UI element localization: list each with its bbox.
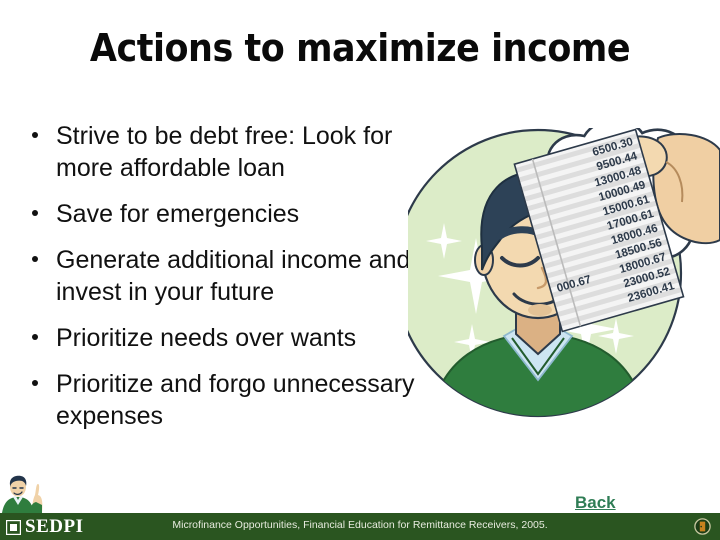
slide-canvas: Actions to maximize income Strive to be …: [0, 0, 720, 540]
list-item: Prioritize and forgo unnecessary expense…: [24, 368, 434, 432]
list-item-text: Generate additional income and invest in…: [56, 246, 410, 306]
chin-shade: [528, 304, 552, 316]
bullet-dot-icon: [32, 334, 38, 340]
bullet-dot-icon: [32, 380, 38, 386]
list-item: Generate additional income and invest in…: [24, 244, 434, 308]
bullet-dot-icon: [32, 132, 38, 138]
list-item-text: Strive to be debt free: Look for more af…: [56, 122, 392, 182]
list-item-text: Prioritize needs over wants: [56, 324, 356, 352]
footer-badge-icon: [694, 518, 711, 540]
bullet-list: Strive to be debt free: Look for more af…: [24, 120, 434, 446]
footer-credit-text: Microfinance Opportunities, Financial Ed…: [0, 519, 720, 531]
list-item: Strive to be debt free: Look for more af…: [24, 120, 434, 184]
page-title: Actions to maximize income: [29, 26, 691, 70]
list-item-text: Save for emergencies: [56, 200, 299, 228]
footer-bar: SEDPI Microfinance Opportunities, Financ…: [0, 513, 720, 540]
list-item: Save for emergencies: [24, 198, 434, 230]
sedpi-mascot-icon: [2, 475, 44, 513]
list-item: Prioritize needs over wants: [24, 322, 434, 354]
list-item-text: Prioritize and forgo unnecessary expense…: [56, 370, 415, 430]
bullet-dot-icon: [32, 256, 38, 262]
illustration-man-thinking: 6500.30 9500.44 13000.48 10000.49 15000.…: [408, 128, 720, 418]
back-link[interactable]: Back: [575, 493, 616, 513]
bullet-dot-icon: [32, 210, 38, 216]
